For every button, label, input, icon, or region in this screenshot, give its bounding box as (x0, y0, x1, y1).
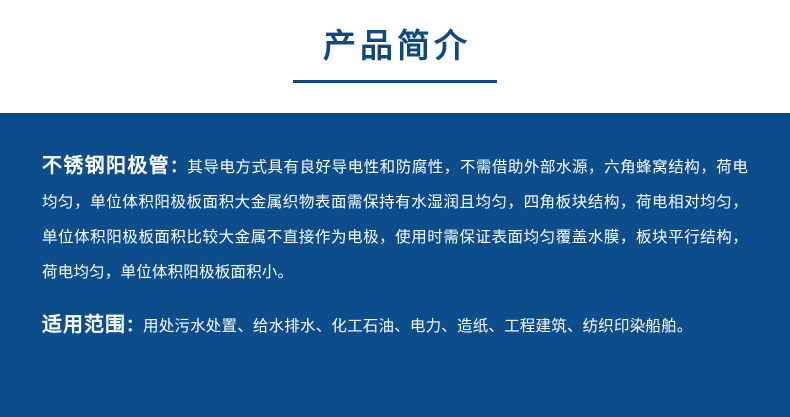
page-title: 产品简介 (319, 29, 471, 62)
section-lead-colon: ： (170, 157, 187, 177)
section-lead-label: 适用范围 (42, 312, 126, 336)
content-band: 不锈钢阳极管：其导电方式具有良好导电性和防腐性，不需借助外部水源，六角蜂窝结构，… (0, 113, 790, 417)
section-stainless-steel-anode-tube: 不锈钢阳极管：其导电方式具有良好导电性和防腐性，不需借助外部水源，六角蜂窝结构，… (42, 148, 748, 290)
content-inner: 不锈钢阳极管：其导电方式具有良好导电性和防腐性，不需借助外部水源，六角蜂窝结构，… (42, 113, 748, 417)
section-paragraph: 不锈钢阳极管：其导电方式具有良好导电性和防腐性，不需借助外部水源，六角蜂窝结构，… (42, 148, 748, 290)
section-lead-label: 不锈钢阳极管 (42, 153, 170, 177)
section-body-text: 用处污水处置、给水排水、化工石油、电力、造纸、工程建筑、纺织印染船舶。 (143, 317, 693, 335)
header-band: 产品简介 (0, 0, 790, 113)
product-intro-page: 产品简介 不锈钢阳极管：其导电方式具有良好导电性和防腐性，不需借助外部水源，六角… (0, 0, 790, 417)
section-paragraph: 适用范围：用处污水处置、给水排水、化工石油、电力、造纸、工程建筑、纺织印染船舶。 (42, 307, 748, 344)
section-lead-colon: ： (126, 316, 143, 336)
section-application-scope: 适用范围：用处污水处置、给水排水、化工石油、电力、造纸、工程建筑、纺织印染船舶。 (42, 307, 748, 344)
title-underline-divider (293, 80, 497, 83)
